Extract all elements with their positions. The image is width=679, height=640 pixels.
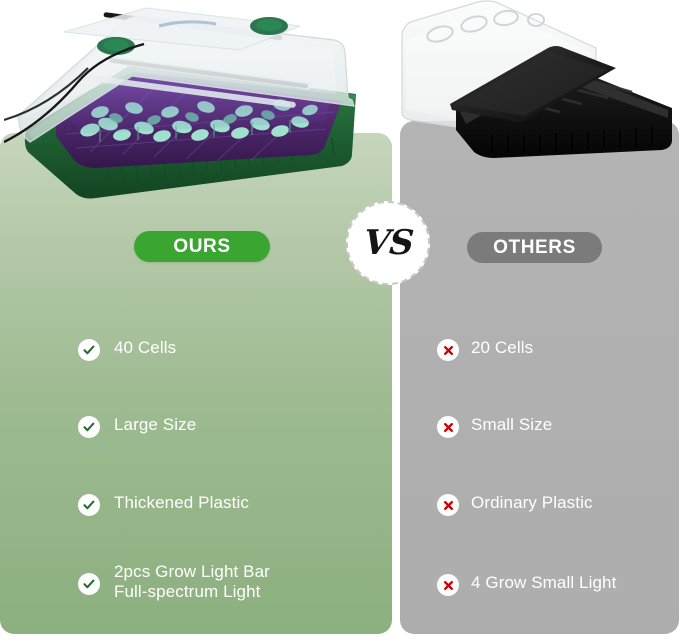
list-item-label: 40 Cells xyxy=(114,338,176,358)
list-item: Thickened Plastic xyxy=(78,493,249,516)
list-item-label: 2pcs Grow Light Bar Full-spectrum Light xyxy=(114,562,270,602)
list-item-label: Large Size xyxy=(114,415,196,435)
others-badge: OTHERS xyxy=(467,232,602,263)
list-item: Small Size xyxy=(437,415,552,438)
list-item-label: Ordinary Plastic xyxy=(471,493,593,513)
list-item: 2pcs Grow Light Bar Full-spectrum Light xyxy=(78,562,270,602)
ours-badge-label: OURS xyxy=(173,236,230,258)
list-item-label: 4 Grow Small Light xyxy=(471,573,616,593)
cross-icon xyxy=(437,574,459,596)
check-icon xyxy=(78,339,100,361)
list-item: 20 Cells xyxy=(437,338,533,361)
vs-divider-circle: VS xyxy=(346,201,430,285)
cross-icon xyxy=(437,416,459,438)
ours-product-image xyxy=(4,2,372,210)
others-badge-label: OTHERS xyxy=(493,237,576,259)
list-item-label: Thickened Plastic xyxy=(114,493,249,513)
list-item: 4 Grow Small Light xyxy=(437,573,616,596)
others-panel xyxy=(400,121,679,634)
cross-icon xyxy=(437,494,459,516)
check-icon xyxy=(78,416,100,438)
list-item: Large Size xyxy=(78,415,196,438)
check-icon xyxy=(78,573,100,595)
list-item-label: 20 Cells xyxy=(471,338,533,358)
others-product-image xyxy=(400,0,679,165)
ours-badge: OURS xyxy=(134,231,270,262)
list-item: 40 Cells xyxy=(78,338,176,361)
list-item: Ordinary Plastic xyxy=(437,493,593,516)
list-item-label: Small Size xyxy=(471,415,552,435)
vs-label: VS xyxy=(362,223,414,263)
check-icon xyxy=(78,494,100,516)
cross-icon xyxy=(437,339,459,361)
